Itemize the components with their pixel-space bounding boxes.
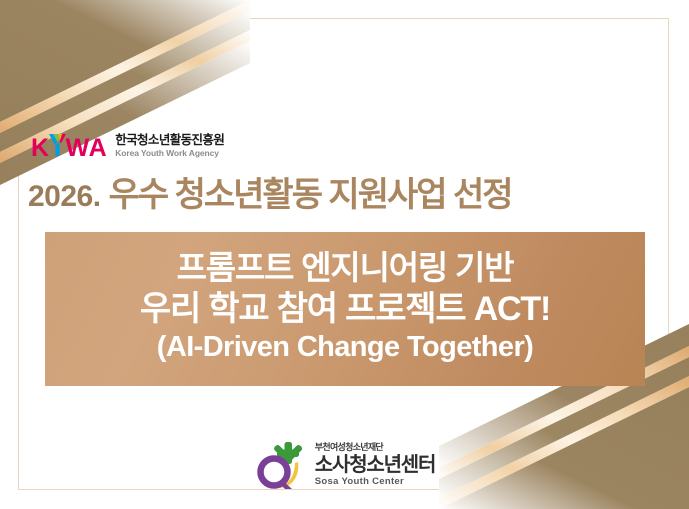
- kywa-logo-mark: K W A: [31, 131, 106, 161]
- kywa-letter-k: K: [31, 136, 49, 161]
- kywa-letter-y-icon: [49, 131, 66, 156]
- kywa-logo-text: 한국청소년활동진흥원 Korea Youth Work Agency: [115, 133, 224, 158]
- sosa-logo-mark: [254, 440, 306, 490]
- project-title-line-3: (AI-Driven Change Together): [157, 330, 533, 365]
- kywa-english-name: Korea Youth Work Agency: [115, 149, 224, 159]
- kywa-korean-name: 한국청소년활동진흥원: [115, 133, 224, 147]
- sosa-logo-text: 부천여성청소년재단 소사청소년센터 Sosa Youth Center: [315, 443, 435, 487]
- headline-text: 우수 청소년활동 지원사업 선정: [109, 176, 662, 215]
- sosa-foundation-name: 부천여성청소년재단: [315, 443, 435, 453]
- poster-canvas: K W A 한국청소년활동진흥원 Korea Youth Work Agency…: [0, 0, 689, 509]
- sosa-youth-center-logo: 부천여성청소년재단 소사청소년센터 Sosa Youth Center: [0, 440, 689, 490]
- project-title-line-2: 우리 학교 참여 프로젝트 ACT!: [140, 289, 550, 330]
- headline-year: 2026.: [28, 180, 109, 215]
- kywa-letter-a: A: [89, 136, 107, 161]
- poster-headline: 2026. 우수 청소년활동 지원사업 선정: [28, 176, 662, 215]
- project-title-box: 프롬프트 엔지니어링 기반 우리 학교 참여 프로젝트 ACT! (AI-Dri…: [45, 232, 645, 386]
- project-title-line-1: 프롬프트 엔지니어링 기반: [177, 248, 514, 288]
- sosa-english-name: Sosa Youth Center: [315, 477, 435, 487]
- sosa-korean-name: 소사청소년센터: [315, 454, 435, 476]
- kywa-agency-logo: K W A 한국청소년활동진흥원 Korea Youth Work Agency: [31, 131, 224, 161]
- kywa-letter-w: W: [66, 136, 89, 161]
